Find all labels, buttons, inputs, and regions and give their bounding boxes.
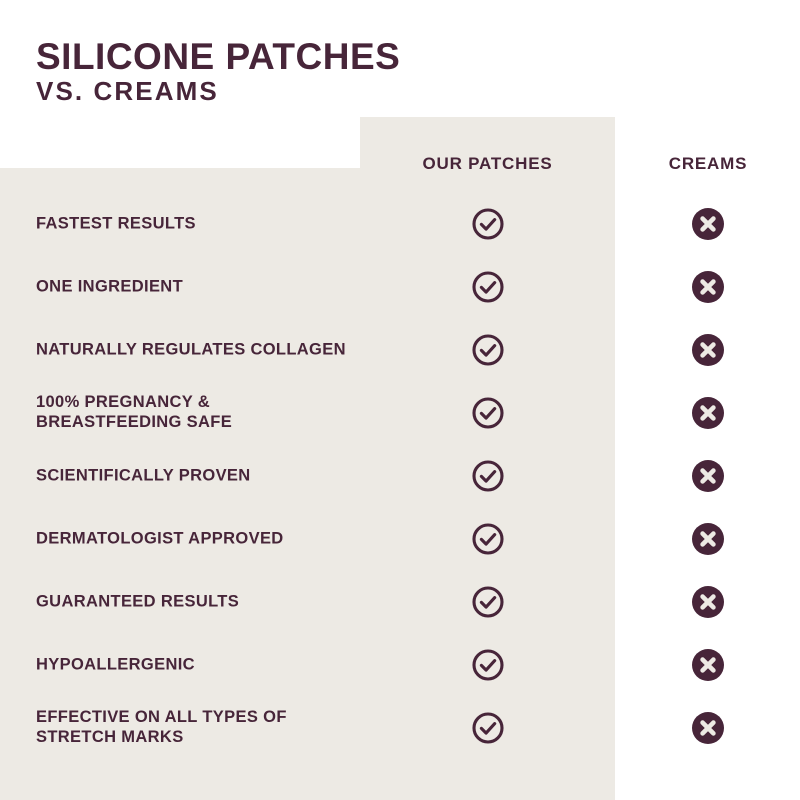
cell-patches-check-circle-icon: [360, 645, 615, 685]
cell-patches-check-circle-icon: [360, 393, 615, 433]
x-circle-icon: [692, 208, 724, 240]
check-circle-icon: [471, 207, 505, 241]
check-circle-icon: [471, 711, 505, 745]
title-primary: SILICONE PATCHES: [36, 38, 400, 76]
cell-creams-x-circle-icon: [616, 708, 800, 748]
cell-patches-check-circle-icon: [360, 582, 615, 622]
title-secondary: VS. CREAMS: [36, 76, 400, 108]
row-label: GUARANTEED RESULTS: [36, 591, 346, 612]
cell-creams-x-circle-icon: [616, 519, 800, 559]
comparison-table-graphic: SILICONE PATCHES VS. CREAMS OUR PATCHES …: [0, 0, 800, 800]
cell-creams-x-circle-icon: [616, 645, 800, 685]
comparison-rows: FASTEST RESULTSONE INGREDIENTNATURALLY R…: [0, 192, 800, 759]
x-circle-icon: [692, 649, 724, 681]
table-row: EFFECTIVE ON ALL TYPES OF STRETCH MARKS: [0, 696, 800, 759]
table-row: GUARANTEED RESULTS: [0, 570, 800, 633]
cell-creams-x-circle-icon: [616, 393, 800, 433]
table-row: DERMATOLOGIST APPROVED: [0, 507, 800, 570]
cell-patches-check-circle-icon: [360, 519, 615, 559]
row-label: SCIENTIFICALLY PROVEN: [36, 465, 346, 486]
check-circle-icon: [471, 522, 505, 556]
x-circle-icon: [692, 334, 724, 366]
table-row: SCIENTIFICALLY PROVEN: [0, 444, 800, 507]
row-label: EFFECTIVE ON ALL TYPES OF STRETCH MARKS: [36, 707, 346, 749]
x-circle-icon: [692, 712, 724, 744]
table-row: ONE INGREDIENT: [0, 255, 800, 318]
row-label: HYPOALLERGENIC: [36, 654, 346, 675]
cell-patches-check-circle-icon: [360, 204, 615, 244]
table-row: FASTEST RESULTS: [0, 192, 800, 255]
check-circle-icon: [471, 648, 505, 682]
cell-creams-x-circle-icon: [616, 204, 800, 244]
check-circle-icon: [471, 585, 505, 619]
cell-creams-x-circle-icon: [616, 456, 800, 496]
cell-creams-x-circle-icon: [616, 267, 800, 307]
cell-patches-check-circle-icon: [360, 330, 615, 370]
check-circle-icon: [471, 396, 505, 430]
check-circle-icon: [471, 270, 505, 304]
x-circle-icon: [692, 460, 724, 492]
table-row: HYPOALLERGENIC: [0, 633, 800, 696]
check-circle-icon: [471, 459, 505, 493]
row-label: FASTEST RESULTS: [36, 213, 346, 234]
cell-patches-check-circle-icon: [360, 708, 615, 748]
x-circle-icon: [692, 586, 724, 618]
x-circle-icon: [692, 397, 724, 429]
cell-creams-x-circle-icon: [616, 582, 800, 622]
table-row: 100% PREGNANCY & BREASTFEEDING SAFE: [0, 381, 800, 444]
row-label: NATURALLY REGULATES COLLAGEN: [36, 339, 346, 360]
row-label: DERMATOLOGIST APPROVED: [36, 528, 346, 549]
cell-patches-check-circle-icon: [360, 267, 615, 307]
table-row: NATURALLY REGULATES COLLAGEN: [0, 318, 800, 381]
column-header-creams: CREAMS: [616, 154, 800, 174]
row-label: ONE INGREDIENT: [36, 276, 346, 297]
x-circle-icon: [692, 523, 724, 555]
x-circle-icon: [692, 271, 724, 303]
cell-patches-check-circle-icon: [360, 456, 615, 496]
page-title: SILICONE PATCHES VS. CREAMS: [36, 38, 400, 108]
column-header-patches: OUR PATCHES: [360, 154, 615, 174]
check-circle-icon: [471, 333, 505, 367]
row-label: 100% PREGNANCY & BREASTFEEDING SAFE: [36, 392, 346, 434]
cell-creams-x-circle-icon: [616, 330, 800, 370]
